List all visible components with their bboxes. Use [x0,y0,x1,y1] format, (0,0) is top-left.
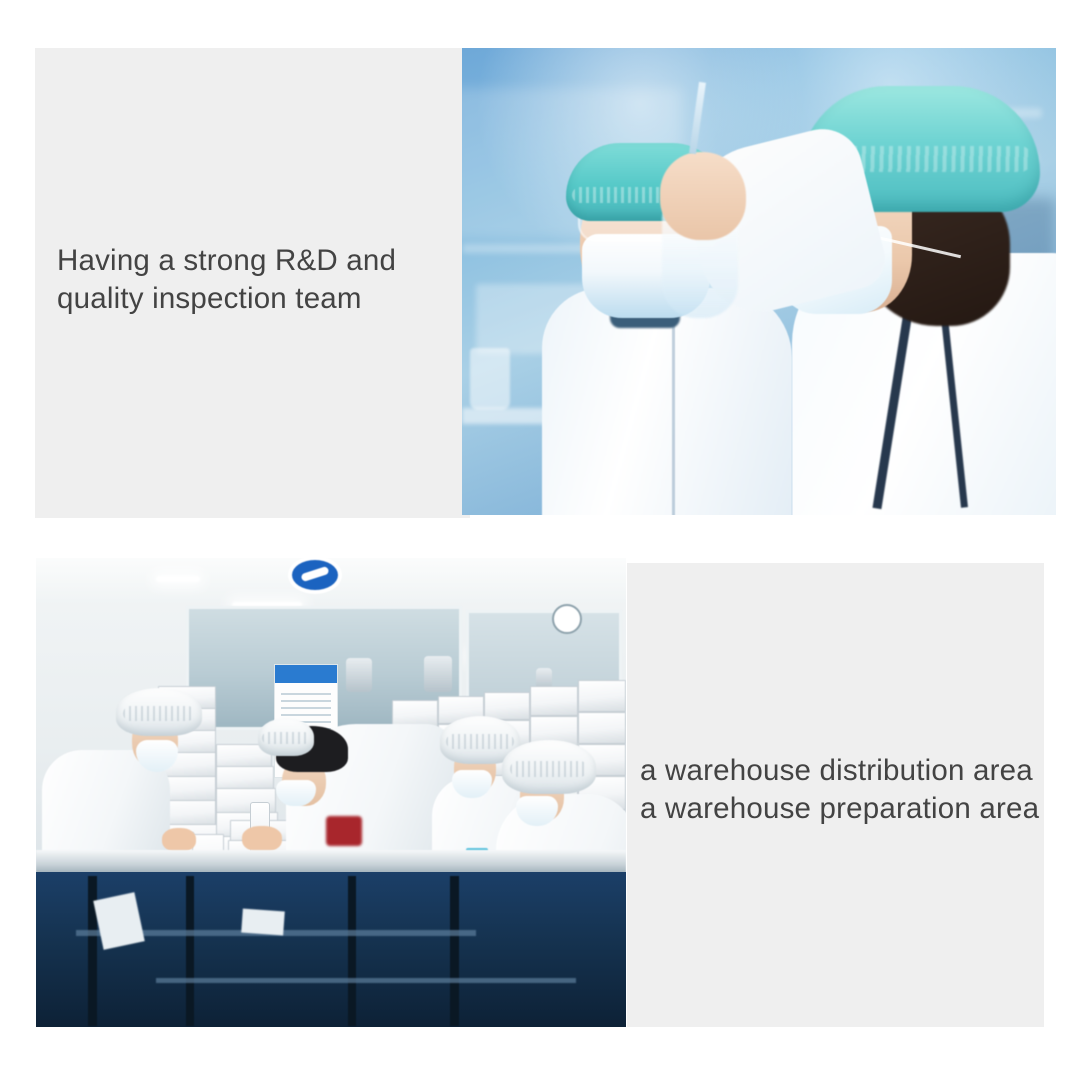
rnd-lab-photo [462,48,1056,515]
table-rail-2 [156,978,576,983]
table-leg-2 [186,876,194,1026]
paper-under-table-2 [241,909,285,936]
table-leg-1 [88,876,97,1026]
rnd-caption-line-1: Having a strong R&D and [57,242,396,280]
wall-clock-icon [552,604,582,634]
warehouse-packing-photo [36,558,626,1027]
rnd-caption: Having a strong R&D and quality inspecti… [57,242,396,318]
steel-container-1 [346,658,372,692]
rnd-caption-line-2: quality inspection team [57,280,396,318]
ceiling-light-1 [156,576,200,582]
warehouse-caption: a warehouse distribution area a warehous… [640,752,1039,828]
warehouse-caption-line-1: a warehouse distribution area [640,752,1039,790]
lab-beaker [470,348,510,410]
lab-hand [660,152,746,240]
table-leg-4 [450,876,459,1026]
page-root: Having a strong R&D and quality inspecti… [0,0,1080,1080]
table-leg-3 [348,876,356,1026]
blue-circle-sign-icon [292,560,338,590]
warehouse-caption-line-2: a warehouse preparation area [640,790,1039,828]
